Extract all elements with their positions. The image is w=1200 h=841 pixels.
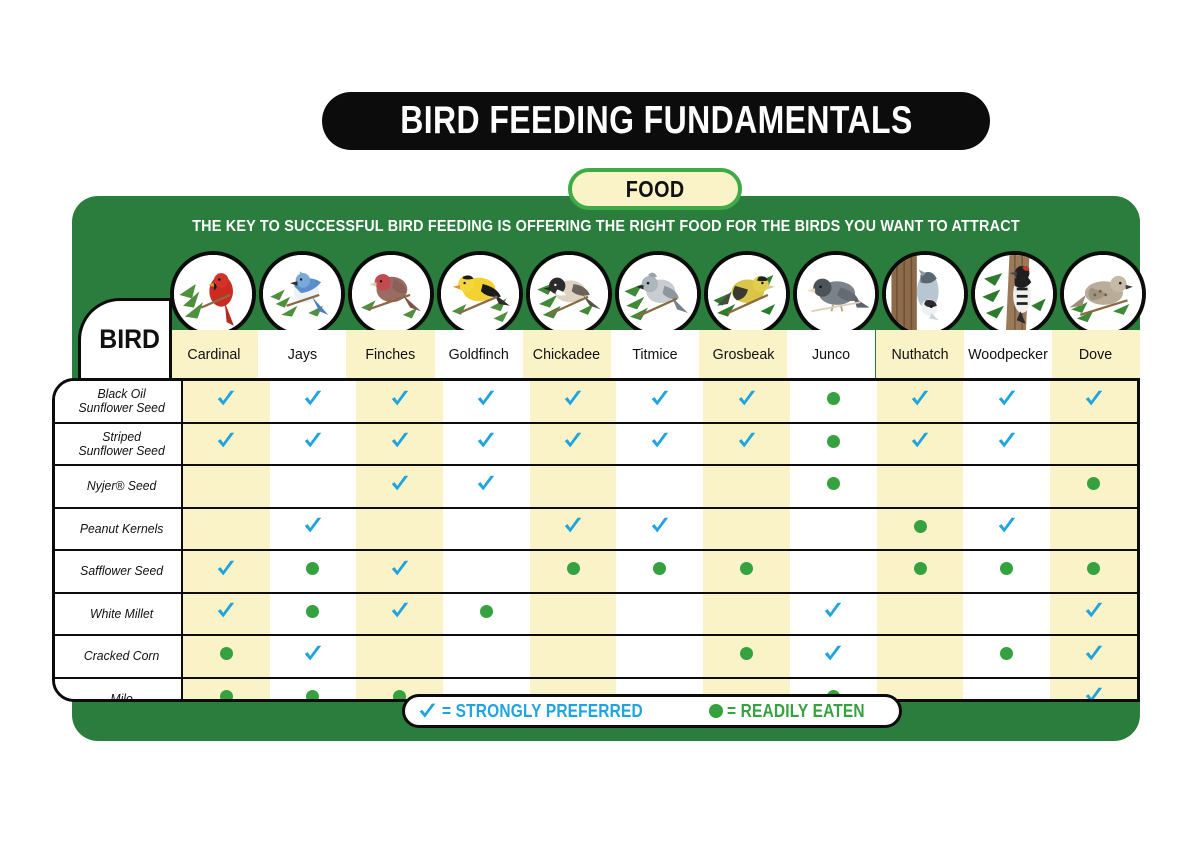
- junco-bird-icon: [793, 251, 879, 337]
- check-icon: [822, 643, 844, 665]
- cell-nuthatch-dot: [877, 508, 964, 551]
- dot-icon: [914, 520, 927, 533]
- cell-titmice-empty: [616, 635, 703, 678]
- check-icon: [1083, 600, 1105, 622]
- row-label-line: Cracked Corn: [63, 649, 181, 663]
- dot-icon: [1087, 562, 1100, 575]
- cell-grosbeak-empty: [703, 593, 790, 636]
- row-axis-label-tab: BIRD: [78, 298, 172, 378]
- table-row: Safflower Seed: [55, 550, 1137, 593]
- cell-goldfinch-empty: [443, 635, 530, 678]
- cell-grosbeak-dot: [703, 635, 790, 678]
- cell-jays-dot: [270, 593, 357, 636]
- cell-jays-check: [270, 381, 357, 423]
- cell-finches-empty: [356, 508, 443, 551]
- cell-cardinal-dot: [182, 678, 270, 703]
- check-icon: [302, 515, 324, 537]
- check-icon: [302, 643, 324, 665]
- cell-cardinal-check: [182, 423, 270, 466]
- cell-woodpecker-empty: [963, 678, 1050, 703]
- check-icon: [736, 430, 758, 452]
- row-label-line: Striped: [63, 430, 181, 444]
- column-header-finches: Finches: [346, 330, 434, 378]
- cell-titmice-empty: [616, 465, 703, 508]
- cell-cardinal-check: [182, 550, 270, 593]
- row-label-milo: Milo: [55, 678, 182, 703]
- cell-woodpecker-empty: [963, 593, 1050, 636]
- cell-dove-check: [1050, 593, 1137, 636]
- check-icon: [389, 558, 411, 580]
- table-row: Nyjer® Seed: [55, 465, 1137, 508]
- cell-nuthatch-dot: [877, 550, 964, 593]
- legend-label-readily-eaten: = READILY EATEN: [727, 701, 865, 722]
- bird-name-header-row: Cardinal Jays Finches Goldfinch Chickade…: [170, 330, 1140, 378]
- check-icon: [562, 430, 584, 452]
- legend-label-strongly-preferred: = STRONGLY PREFERRED: [442, 701, 643, 722]
- column-header-cardinal: Cardinal: [170, 330, 258, 378]
- dot-icon: [1087, 477, 1100, 490]
- nuthatch-bird-icon: [882, 251, 968, 337]
- dot-icon: [480, 605, 493, 618]
- cell-grosbeak-empty: [703, 508, 790, 551]
- cell-nuthatch-empty: [877, 593, 964, 636]
- check-icon: [736, 388, 758, 410]
- check-icon: [215, 600, 237, 622]
- cell-goldfinch-check: [443, 381, 530, 423]
- row-label-line: Milo: [63, 692, 181, 702]
- row-label-line: White Millet: [63, 607, 181, 621]
- dot-icon: [1000, 647, 1013, 660]
- check-icon: [302, 430, 324, 452]
- cell-junco-empty: [790, 550, 877, 593]
- legend-item-readily-eaten: = READILY EATEN: [709, 701, 887, 722]
- cell-finches-check: [356, 381, 443, 423]
- check-icon: [996, 388, 1018, 410]
- dot-icon: [740, 562, 753, 575]
- legend-item-strongly-preferred: = STRONGLY PREFERRED: [417, 701, 676, 722]
- cell-grosbeak-check: [703, 423, 790, 466]
- dot-icon: [709, 704, 723, 718]
- column-header-chickadee: Chickadee: [523, 330, 611, 378]
- dot-icon: [827, 392, 840, 405]
- cell-junco-dot: [790, 381, 877, 423]
- cell-finches-check: [356, 550, 443, 593]
- cell-junco-empty: [790, 508, 877, 551]
- cell-titmice-check: [616, 381, 703, 423]
- dot-icon: [827, 435, 840, 448]
- check-icon: [215, 388, 237, 410]
- cell-woodpecker-check: [963, 423, 1050, 466]
- row-label-white-millet: White Millet: [55, 593, 182, 636]
- row-label-peanut-kernels: Peanut Kernels: [55, 508, 182, 551]
- cell-finches-check: [356, 465, 443, 508]
- check-icon: [1083, 643, 1105, 665]
- cardinal-bird-icon: [170, 251, 256, 337]
- cell-dove-check: [1050, 678, 1137, 703]
- cell-jays-empty: [270, 465, 357, 508]
- check-icon: [909, 430, 931, 452]
- cell-jays-check: [270, 423, 357, 466]
- cell-finches-check: [356, 593, 443, 636]
- cell-jays-check: [270, 635, 357, 678]
- row-label-black-oil-sunflower-seed: Black OilSunflower Seed: [55, 381, 182, 423]
- cell-cardinal-check: [182, 381, 270, 423]
- dot-icon: [567, 562, 580, 575]
- cell-nuthatch-check: [877, 423, 964, 466]
- matrix-table: Black OilSunflower SeedStripedSunflower …: [55, 381, 1137, 702]
- check-icon: [302, 388, 324, 410]
- cell-cardinal-empty: [182, 465, 270, 508]
- goldfinch-bird-icon: [437, 251, 523, 337]
- check-icon: [389, 600, 411, 622]
- cell-woodpecker-check: [963, 508, 1050, 551]
- table-row: White Millet: [55, 593, 1137, 636]
- bird-portrait-strip: [170, 251, 1140, 337]
- dot-icon: [306, 562, 319, 575]
- cell-chickadee-check: [530, 423, 617, 466]
- check-icon: [1083, 388, 1105, 410]
- cell-nuthatch-empty: [877, 635, 964, 678]
- food-preference-table: Black OilSunflower SeedStripedSunflower …: [52, 378, 1140, 702]
- cell-woodpecker-dot: [963, 635, 1050, 678]
- cell-titmice-check: [616, 508, 703, 551]
- column-header-titmice: Titmice: [611, 330, 699, 378]
- cell-cardinal-empty: [182, 508, 270, 551]
- dot-icon: [914, 562, 927, 575]
- cell-goldfinch-dot: [443, 593, 530, 636]
- column-header-jays: Jays: [258, 330, 346, 378]
- column-header-nuthatch: Nuthatch: [876, 330, 964, 378]
- check-icon: [562, 388, 584, 410]
- section-pill-label: FOOD: [626, 176, 685, 203]
- check-icon: [649, 430, 671, 452]
- dot-icon: [827, 477, 840, 490]
- column-header-grosbeak: Grosbeak: [699, 330, 787, 378]
- check-icon: [562, 515, 584, 537]
- cell-finches-empty: [356, 635, 443, 678]
- page-title: BIRD FEEDING FUNDAMENTALS: [400, 99, 912, 143]
- column-header-goldfinch: Goldfinch: [435, 330, 523, 378]
- cell-dove-check: [1050, 635, 1137, 678]
- blue-jay-bird-icon: [259, 251, 345, 337]
- dot-icon: [653, 562, 666, 575]
- cell-grosbeak-dot: [703, 550, 790, 593]
- row-label-striped-sunflower-seed: StripedSunflower Seed: [55, 423, 182, 466]
- row-label-line: Peanut Kernels: [63, 522, 181, 536]
- cell-junco-dot: [790, 423, 877, 466]
- table-row: Cracked Corn: [55, 635, 1137, 678]
- dot-icon: [220, 647, 233, 660]
- cell-titmice-dot: [616, 550, 703, 593]
- check-icon: [389, 388, 411, 410]
- cell-dove-dot: [1050, 550, 1137, 593]
- check-icon: [996, 430, 1018, 452]
- check-icon: [475, 388, 497, 410]
- mourning-dove-bird-icon: [1060, 251, 1146, 337]
- check-icon: [649, 388, 671, 410]
- column-header-woodpecker: Woodpecker: [964, 330, 1052, 378]
- row-label-line: Black Oil: [63, 387, 181, 401]
- cell-chickadee-check: [530, 508, 617, 551]
- row-label-line: Safflower Seed: [63, 564, 181, 578]
- cell-dove-dot: [1050, 465, 1137, 508]
- column-header-dove: Dove: [1052, 330, 1140, 378]
- bird-axis-label: BIRD: [99, 324, 160, 355]
- row-label-safflower-seed: Safflower Seed: [55, 550, 182, 593]
- table-row: Black OilSunflower Seed: [55, 381, 1137, 423]
- cell-jays-dot: [270, 678, 357, 703]
- check-icon: [996, 515, 1018, 537]
- dot-icon: [740, 647, 753, 660]
- cell-titmice-empty: [616, 593, 703, 636]
- row-label-line: Nyjer® Seed: [63, 479, 181, 493]
- cell-chickadee-empty: [530, 465, 617, 508]
- cell-titmice-check: [616, 423, 703, 466]
- cell-jays-check: [270, 508, 357, 551]
- cell-jays-dot: [270, 550, 357, 593]
- cell-goldfinch-empty: [443, 550, 530, 593]
- check-icon: [215, 558, 237, 580]
- cell-chickadee-empty: [530, 635, 617, 678]
- cell-woodpecker-check: [963, 381, 1050, 423]
- cell-grosbeak-empty: [703, 465, 790, 508]
- chickadee-bird-icon: [526, 251, 612, 337]
- dot-icon: [220, 690, 233, 702]
- row-label-cracked-corn: Cracked Corn: [55, 635, 182, 678]
- check-icon: [1083, 685, 1105, 702]
- grosbeak-bird-icon: [704, 251, 790, 337]
- row-label-nyjer-seed: Nyjer® Seed: [55, 465, 182, 508]
- cell-goldfinch-check: [443, 423, 530, 466]
- row-label-line: Sunflower Seed: [63, 401, 181, 415]
- check-icon: [389, 473, 411, 495]
- cell-woodpecker-dot: [963, 550, 1050, 593]
- dot-icon: [306, 690, 319, 702]
- check-icon: [475, 473, 497, 495]
- cell-cardinal-check: [182, 593, 270, 636]
- check-icon: [909, 388, 931, 410]
- cell-goldfinch-empty: [443, 508, 530, 551]
- check-icon: [389, 430, 411, 452]
- cell-nuthatch-check: [877, 381, 964, 423]
- check-icon: [215, 430, 237, 452]
- cell-goldfinch-check: [443, 465, 530, 508]
- cell-finches-check: [356, 423, 443, 466]
- cell-chickadee-check: [530, 381, 617, 423]
- matrix-body: Black OilSunflower SeedStripedSunflower …: [55, 381, 1137, 702]
- dot-icon: [306, 605, 319, 618]
- check-icon: [649, 515, 671, 537]
- column-header-junco: Junco: [787, 330, 875, 378]
- infographic-root: BIRD FEEDING FUNDAMENTALS THE KEY TO SUC…: [0, 0, 1200, 841]
- check-icon: [475, 430, 497, 452]
- cell-grosbeak-check: [703, 381, 790, 423]
- legend: = STRONGLY PREFERRED = READILY EATEN: [402, 694, 902, 728]
- dot-icon: [1000, 562, 1013, 575]
- title-banner: BIRD FEEDING FUNDAMENTALS: [322, 92, 990, 150]
- check-icon: [417, 701, 438, 722]
- titmouse-bird-icon: [615, 251, 701, 337]
- cell-chickadee-empty: [530, 593, 617, 636]
- row-label-line: Sunflower Seed: [63, 444, 181, 458]
- cell-junco-check: [790, 593, 877, 636]
- cell-chickadee-dot: [530, 550, 617, 593]
- cell-junco-dot: [790, 465, 877, 508]
- house-finch-bird-icon: [348, 251, 434, 337]
- cell-junco-check: [790, 635, 877, 678]
- cell-dove-check: [1050, 381, 1137, 423]
- section-pill-food: FOOD: [568, 168, 742, 210]
- cell-dove-empty: [1050, 423, 1137, 466]
- check-icon: [822, 600, 844, 622]
- cell-woodpecker-empty: [963, 465, 1050, 508]
- table-row: Peanut Kernels: [55, 508, 1137, 551]
- woodpecker-bird-icon: [971, 251, 1057, 337]
- cell-dove-empty: [1050, 508, 1137, 551]
- cell-nuthatch-empty: [877, 465, 964, 508]
- table-row: StripedSunflower Seed: [55, 423, 1137, 466]
- subtitle-text: THE KEY TO SUCCESSFUL BIRD FEEDING IS OF…: [109, 218, 1102, 236]
- cell-cardinal-dot: [182, 635, 270, 678]
